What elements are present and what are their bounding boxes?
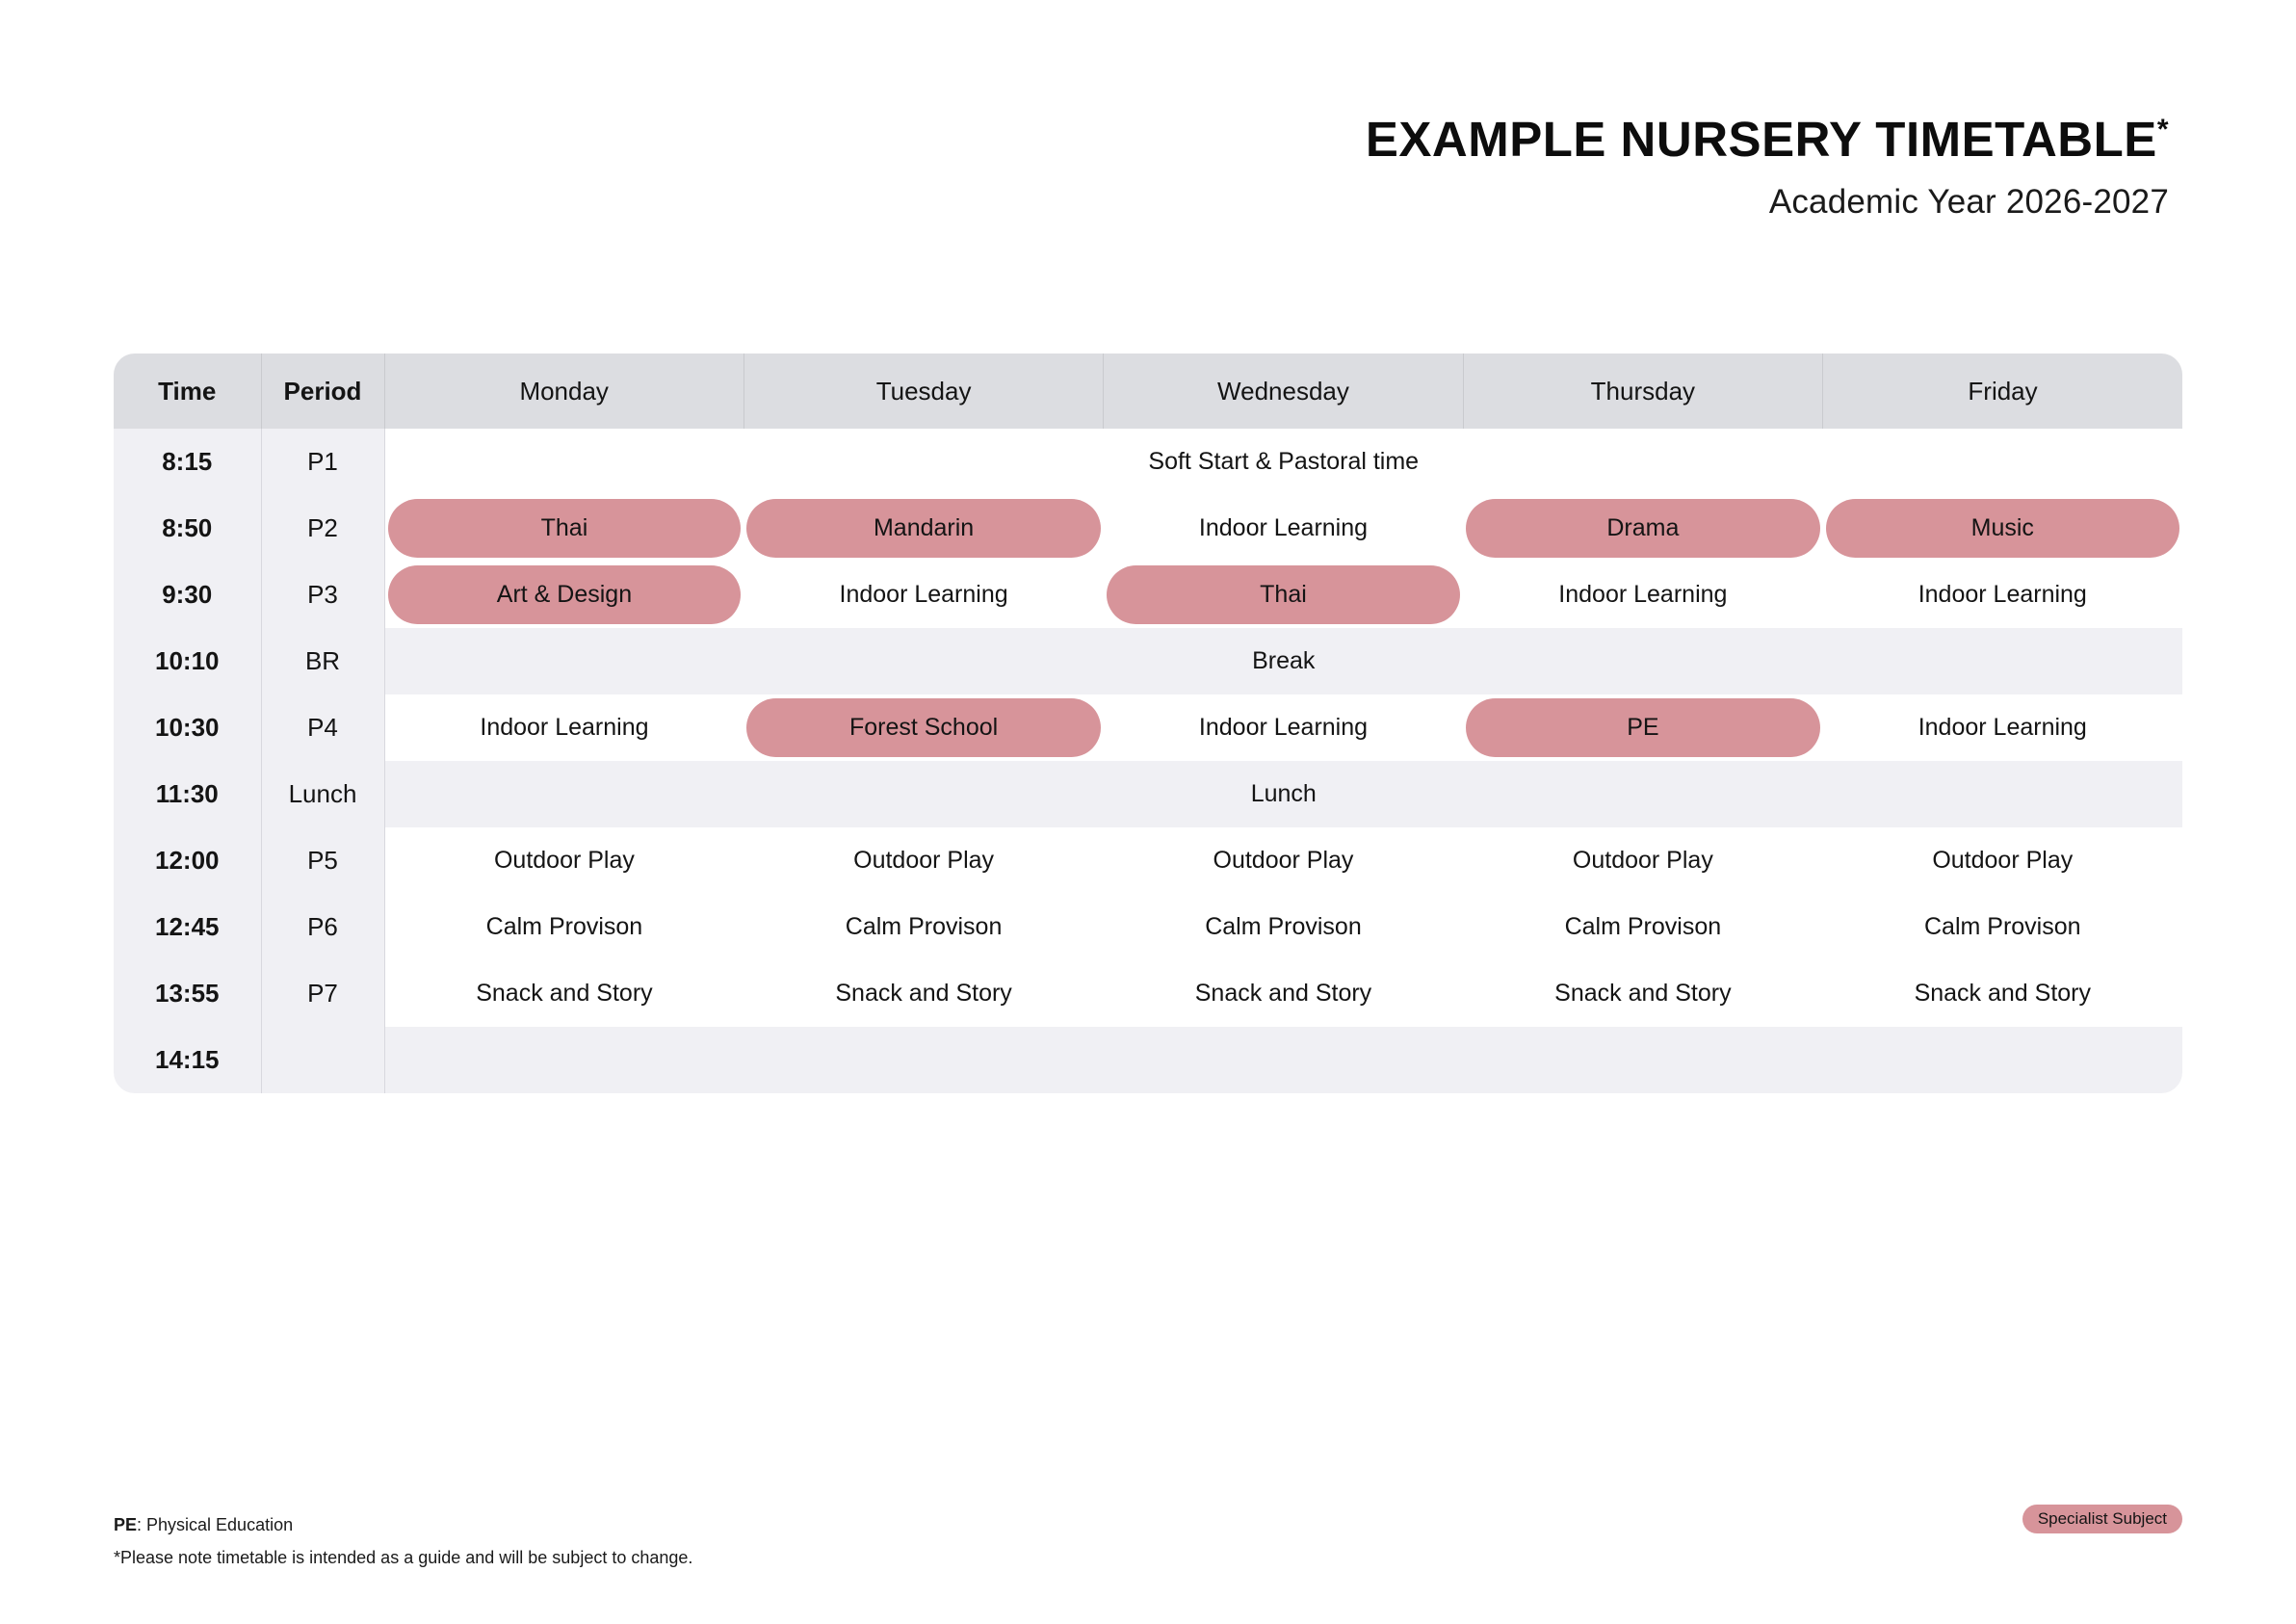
cell-time: 10:30 <box>114 694 261 761</box>
abbreviation-key: PE <box>114 1515 137 1534</box>
cell-activity: Calm Provison <box>384 894 744 960</box>
cell-specialist-subject: Art & Design <box>384 562 744 628</box>
table-row: 9:30P3Art & DesignIndoor LearningThaiInd… <box>114 562 2182 628</box>
cell-period: P3 <box>261 562 384 628</box>
cell-merged-activity: Break <box>384 628 2182 694</box>
disclaimer-note: *Please note timetable is intended as a … <box>114 1541 692 1574</box>
table-row: 8:15P1Soft Start & Pastoral time <box>114 429 2182 495</box>
specialist-subject-pill: Mandarin <box>746 499 1100 558</box>
cell-activity: Indoor Learning <box>384 694 744 761</box>
cell-time: 9:30 <box>114 562 261 628</box>
specialist-subject-pill: Art & Design <box>388 565 742 624</box>
cell-activity: Snack and Story <box>744 960 1103 1027</box>
cell-activity: Calm Provison <box>1823 894 2182 960</box>
cell-period: P2 <box>261 495 384 562</box>
cell-time: 8:50 <box>114 495 261 562</box>
table-row: 10:30P4Indoor LearningForest SchoolIndoo… <box>114 694 2182 761</box>
cell-time: 13:55 <box>114 960 261 1027</box>
cell-period: P1 <box>261 429 384 495</box>
cell-activity: Indoor Learning <box>1823 694 2182 761</box>
cell-activity: Calm Provison <box>744 894 1103 960</box>
title-asterisk: * <box>2157 114 2169 145</box>
table-row: 12:45P6Calm ProvisonCalm ProvisonCalm Pr… <box>114 894 2182 960</box>
cell-activity: Snack and Story <box>1104 960 1463 1027</box>
cell-time: 8:15 <box>114 429 261 495</box>
column-header-thursday: Thursday <box>1463 354 1822 429</box>
footer-notes: PE: Physical Education *Please note time… <box>114 1508 692 1574</box>
cell-activity: Snack and Story <box>384 960 744 1027</box>
cell-period <box>261 1027 384 1093</box>
timetable: Time Period Monday Tuesday Wednesday Thu… <box>114 354 2182 1093</box>
cell-activity: Calm Provison <box>1104 894 1463 960</box>
cell-activity: Outdoor Play <box>1823 827 2182 894</box>
cell-specialist-subject: Mandarin <box>744 495 1103 562</box>
timetable-head: Time Period Monday Tuesday Wednesday Thu… <box>114 354 2182 429</box>
cell-specialist-subject: Drama <box>1463 495 1822 562</box>
page-title-text: EXAMPLE NURSERY TIMETABLE <box>1366 112 2157 167</box>
column-header-wednesday: Wednesday <box>1104 354 1463 429</box>
cell-activity: Outdoor Play <box>744 827 1103 894</box>
table-row: 8:50P2ThaiMandarinIndoor LearningDramaMu… <box>114 495 2182 562</box>
cell-period: Lunch <box>261 761 384 827</box>
legend-specialist-subject: Specialist Subject <box>2022 1505 2182 1533</box>
abbreviation-value: : Physical Education <box>137 1515 293 1534</box>
specialist-subject-pill: Forest School <box>746 698 1100 757</box>
academic-year-subtitle: Academic Year 2026-2027 <box>1366 183 2169 222</box>
page-title: EXAMPLE NURSERY TIMETABLE* <box>1366 114 2169 166</box>
background-watermark <box>125 173 665 308</box>
cell-time: 10:10 <box>114 628 261 694</box>
table-row: 12:00P5Outdoor PlayOutdoor PlayOutdoor P… <box>114 827 2182 894</box>
cell-activity: Outdoor Play <box>1104 827 1463 894</box>
page-header: EXAMPLE NURSERY TIMETABLE* Academic Year… <box>1366 114 2169 222</box>
cell-time: 14:15 <box>114 1027 261 1093</box>
table-row: 11:30LunchLunch <box>114 761 2182 827</box>
cell-activity: Indoor Learning <box>1104 495 1463 562</box>
cell-period: BR <box>261 628 384 694</box>
column-header-time: Time <box>114 354 261 429</box>
timetable-body: 8:15P1Soft Start & Pastoral time8:50P2Th… <box>114 429 2182 1093</box>
cell-activity: Indoor Learning <box>1823 562 2182 628</box>
cell-activity: Outdoor Play <box>1463 827 1822 894</box>
timetable-container: Time Period Monday Tuesday Wednesday Thu… <box>114 354 2182 1093</box>
cell-activity: Snack and Story <box>1463 960 1822 1027</box>
cell-specialist-subject: Thai <box>384 495 744 562</box>
cell-period: P6 <box>261 894 384 960</box>
specialist-subject-pill: Drama <box>1466 499 1819 558</box>
cell-merged-activity: Soft Start & Pastoral time <box>384 429 2182 495</box>
specialist-subject-pill: Thai <box>388 499 742 558</box>
specialist-subject-pill: Thai <box>1107 565 1460 624</box>
table-row: 10:10BRBreak <box>114 628 2182 694</box>
timetable-page: EXAMPLE NURSERY TIMETABLE* Academic Year… <box>0 0 2296 1624</box>
cell-activity: Indoor Learning <box>1104 694 1463 761</box>
table-row: 14:15 <box>114 1027 2182 1093</box>
specialist-subject-pill: PE <box>1466 698 1819 757</box>
header-row: Time Period Monday Tuesday Wednesday Thu… <box>114 354 2182 429</box>
cell-time: 12:00 <box>114 827 261 894</box>
cell-specialist-subject: Music <box>1823 495 2182 562</box>
cell-specialist-subject: Forest School <box>744 694 1103 761</box>
cell-time: 11:30 <box>114 761 261 827</box>
cell-activity: Calm Provison <box>1463 894 1822 960</box>
column-header-period: Period <box>261 354 384 429</box>
abbreviation-line: PE: Physical Education <box>114 1508 692 1541</box>
cell-specialist-subject: Thai <box>1104 562 1463 628</box>
cell-specialist-subject: PE <box>1463 694 1822 761</box>
cell-activity: Indoor Learning <box>744 562 1103 628</box>
cell-period: P4 <box>261 694 384 761</box>
table-row: 13:55P7Snack and StorySnack and StorySna… <box>114 960 2182 1027</box>
cell-activity: Outdoor Play <box>384 827 744 894</box>
cell-period: P7 <box>261 960 384 1027</box>
specialist-subject-pill: Music <box>1826 499 2179 558</box>
cell-empty-tail <box>384 1027 2182 1093</box>
column-header-monday: Monday <box>384 354 744 429</box>
column-header-tuesday: Tuesday <box>744 354 1103 429</box>
cell-merged-activity: Lunch <box>384 761 2182 827</box>
cell-activity: Indoor Learning <box>1463 562 1822 628</box>
column-header-friday: Friday <box>1823 354 2182 429</box>
cell-activity: Snack and Story <box>1823 960 2182 1027</box>
cell-time: 12:45 <box>114 894 261 960</box>
cell-period: P5 <box>261 827 384 894</box>
